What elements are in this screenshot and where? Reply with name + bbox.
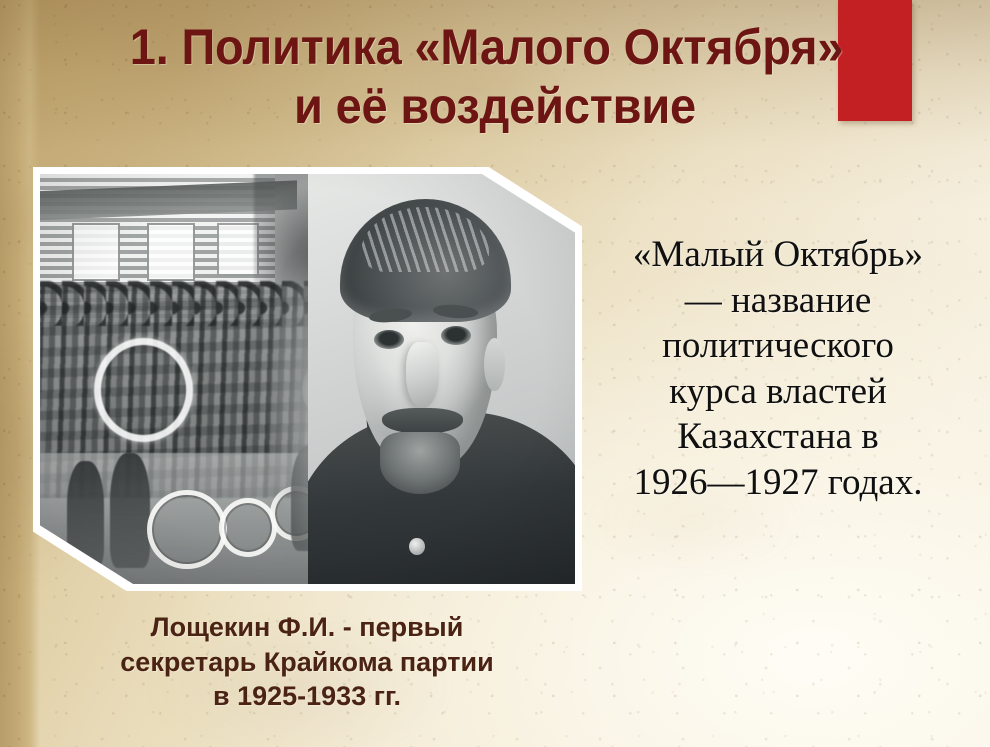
historical-photo [40, 174, 575, 584]
definition-line-6: 1926—1927 годах. [572, 460, 984, 506]
slide-title-line-1: 1. Политика «Малого Октября» [30, 18, 961, 77]
slide-title: 1. Политика «Малого Октября» и её воздей… [30, 18, 961, 135]
caption-line-1: Лощекин Ф.И. - первый [24, 610, 590, 645]
slide-title-line-2: и её воздействие [30, 77, 961, 136]
photo-caption: Лощекин Ф.И. - первый секретарь Крайкома… [24, 610, 590, 714]
photo-vignette [40, 174, 575, 584]
caption-line-3: в 1925-1933 гг. [24, 679, 590, 714]
definition-line-5: Казахстана в [572, 414, 984, 460]
definition-line-1: «Малый Октябрь» [572, 232, 984, 278]
photo-frame [33, 167, 582, 591]
definition-line-4: курса властей [572, 369, 984, 415]
presentation-slide: 1. Политика «Малого Октября» и её воздей… [0, 0, 990, 747]
definition-line-3: политического [572, 323, 984, 369]
definition-line-2: — название [572, 278, 984, 324]
caption-line-2: секретарь Крайкома партии [24, 645, 590, 680]
definition-text-block: «Малый Октябрь» — название политического… [572, 232, 984, 505]
